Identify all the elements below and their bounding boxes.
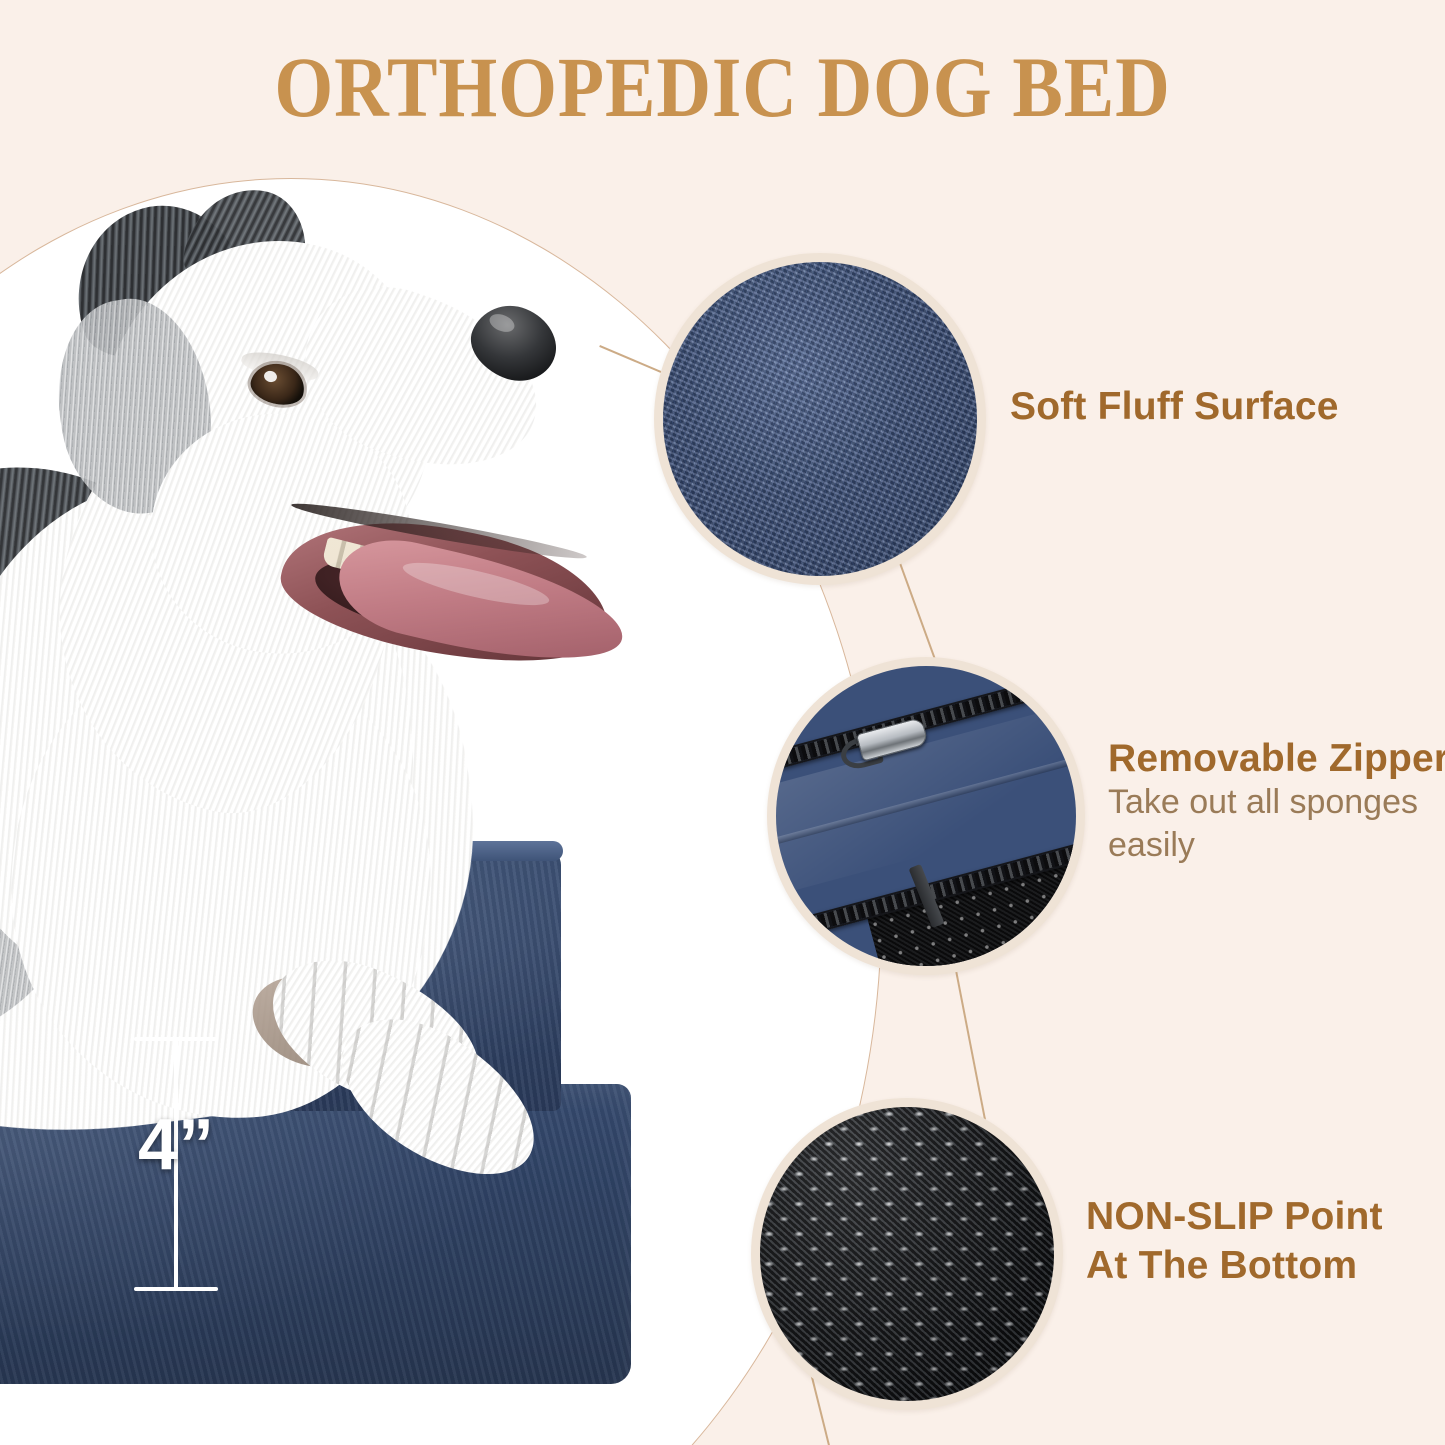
feature-title-line1: NON-SLIP Point	[1086, 1193, 1383, 1242]
feature-swatch-non-slip[interactable]	[751, 1098, 1063, 1410]
feature-swatch-soft-fluff[interactable]	[654, 253, 986, 585]
feature-subtitle: Take out all sponges easily	[1108, 781, 1445, 867]
dimension-cap-bottom	[134, 1287, 218, 1291]
feature-title: Soft Fluff Surface	[1010, 385, 1339, 429]
non-slip-fabric-texture	[760, 1107, 1054, 1401]
feature-label-non-slip: NON-SLIP Point At The Bottom	[1086, 1193, 1383, 1291]
feature-swatch-removable-zipper[interactable]	[767, 657, 1085, 975]
feature-label-soft-fluff: Soft Fluff Surface	[1010, 385, 1339, 429]
feature-title-line2: At The Bottom	[1086, 1242, 1383, 1291]
infographic-canvas: ORTHOPEDIC DOG BED	[0, 0, 1445, 1445]
zipper-fabric-texture	[776, 666, 1076, 966]
bolster-height-dimension: 4”	[116, 1037, 236, 1291]
feature-label-removable-zipper: Removable Zipper Take out all sponges ea…	[1108, 737, 1445, 866]
fluff-fabric-texture	[663, 262, 977, 576]
feature-title: Removable Zipper	[1108, 737, 1445, 781]
dimension-label: 4”	[112, 1109, 240, 1181]
page-title: ORTHOPEDIC DOG BED	[87, 44, 1359, 130]
